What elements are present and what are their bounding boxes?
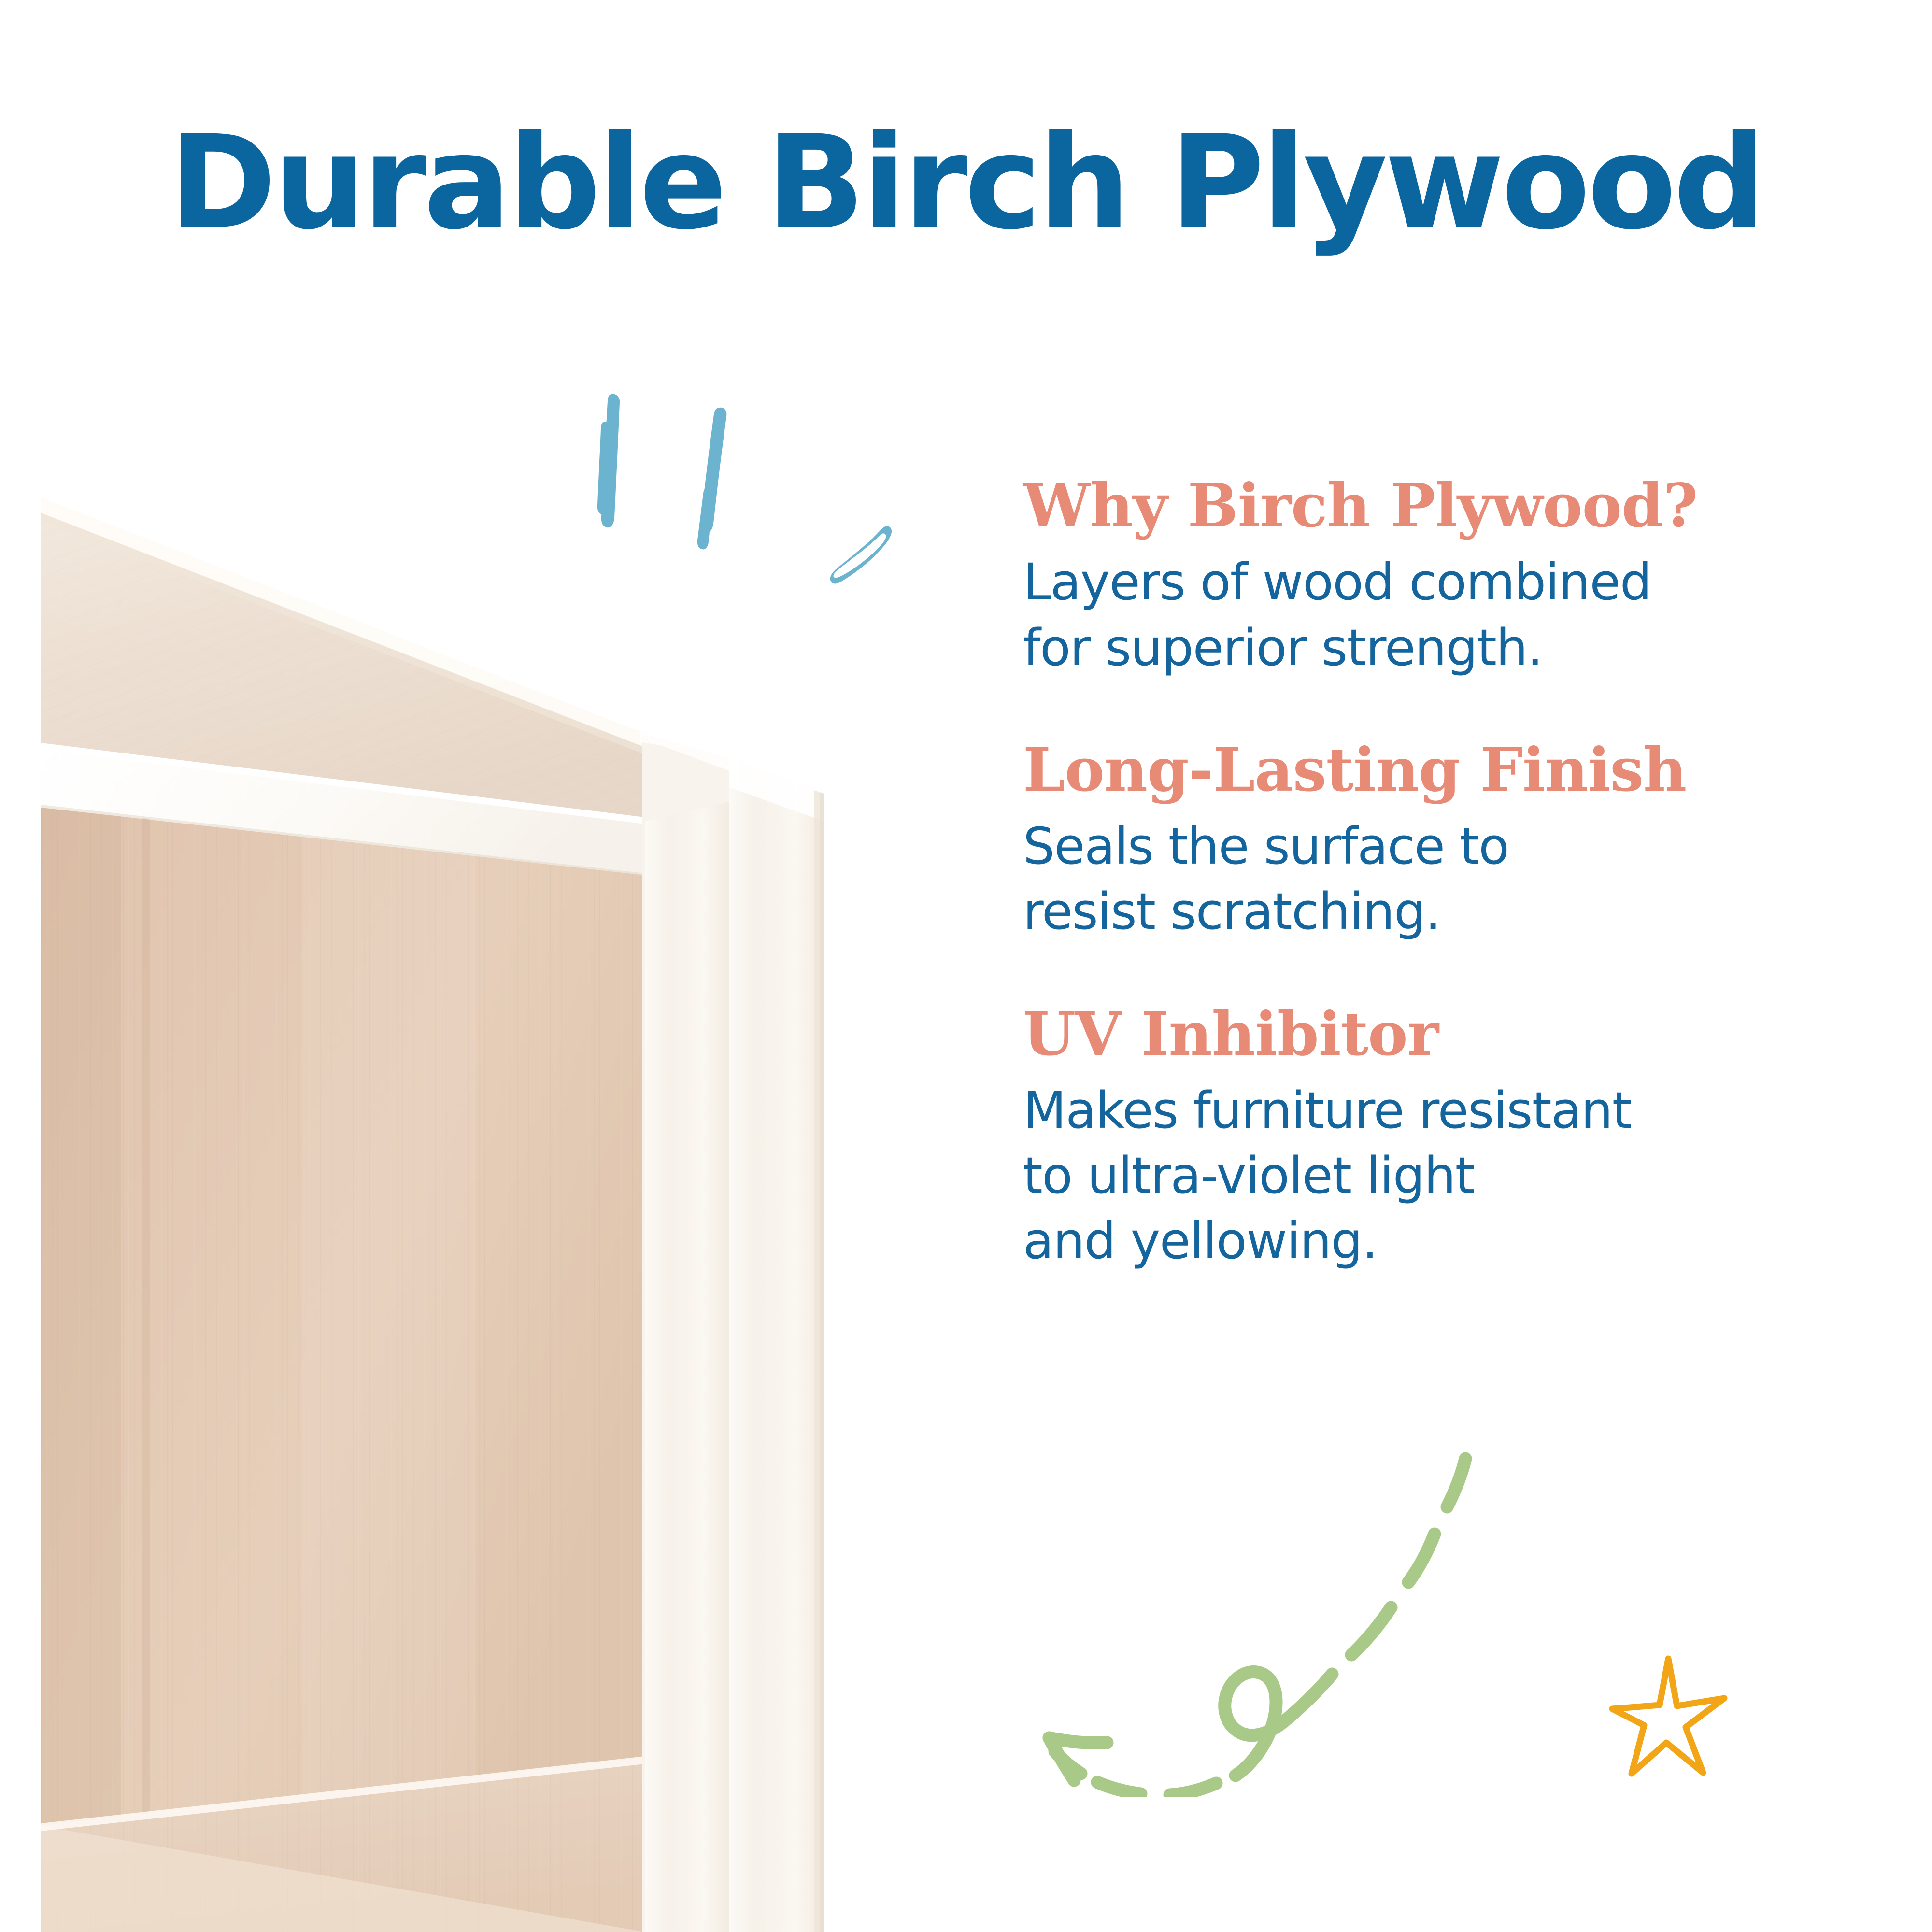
star-outline-icon bbox=[1608, 1652, 1734, 1782]
feature-body-line: resist scratching. bbox=[1023, 879, 1873, 944]
page-title: Durable Birch Plywood bbox=[0, 118, 1932, 248]
feature-heading: Why Birch Plywood? bbox=[1023, 473, 1873, 539]
feature-body: Makes furniture resistant to ultra-viole… bbox=[1023, 1078, 1873, 1274]
feature-body-line: for superior strength. bbox=[1023, 615, 1873, 681]
feature-body: Layers of wood combined for superior str… bbox=[1023, 550, 1873, 680]
feature-body-line: Makes furniture resistant bbox=[1023, 1078, 1873, 1143]
feature-body-line: and yellowing. bbox=[1023, 1208, 1873, 1274]
feature-body: Seals the surface to resist scratching. bbox=[1023, 814, 1873, 944]
feature-body-line: Layers of wood combined bbox=[1023, 550, 1873, 615]
birch-plywood-furniture-image bbox=[41, 483, 867, 1932]
feature-block-why-birch-plywood: Why Birch Plywood? Layers of wood combin… bbox=[1023, 473, 1873, 681]
curved-dashed-arrow-icon bbox=[1038, 1439, 1526, 1797]
feature-body-line: Seals the surface to bbox=[1023, 814, 1873, 879]
feature-block-long-lasting-finish: Long-Lasting Finish Seals the surface to… bbox=[1023, 738, 1873, 945]
feature-block-uv-inhibitor: UV Inhibitor Makes furniture resistant t… bbox=[1023, 1002, 1873, 1274]
features-list: Why Birch Plywood? Layers of wood combin… bbox=[1023, 473, 1873, 1274]
feature-heading: Long-Lasting Finish bbox=[1023, 738, 1873, 803]
feature-body-line: to ultra-violet light bbox=[1023, 1143, 1873, 1208]
product-photo bbox=[41, 483, 867, 1932]
feature-heading: UV Inhibitor bbox=[1023, 1002, 1873, 1067]
